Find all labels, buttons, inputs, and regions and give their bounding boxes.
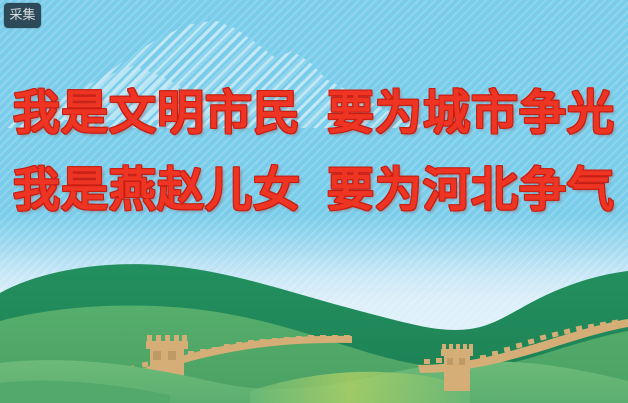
slogan-line-2-left: 我是燕赵儿女 bbox=[13, 163, 301, 218]
slogan-line-1-right: 要为城市争光 bbox=[327, 86, 615, 141]
slogan-block: 我是文明市民要为城市争光 我是燕赵儿女要为河北争气 bbox=[0, 90, 628, 214]
capture-button[interactable]: 采集 bbox=[4, 3, 41, 28]
slogan-line-2: 我是燕赵儿女要为河北争气 bbox=[0, 167, 628, 214]
landscape-illustration bbox=[0, 243, 628, 403]
slogan-line-1: 我是文明市民要为城市争光 bbox=[0, 90, 628, 137]
great-wall-tower-right-icon bbox=[441, 344, 473, 391]
slogan-line-1-left: 我是文明市民 bbox=[13, 86, 301, 141]
banner-image: 我是文明市民要为城市争光 我是燕赵儿女要为河北争气 采集 bbox=[0, 0, 628, 403]
slogan-line-2-right: 要为河北争气 bbox=[327, 163, 615, 218]
